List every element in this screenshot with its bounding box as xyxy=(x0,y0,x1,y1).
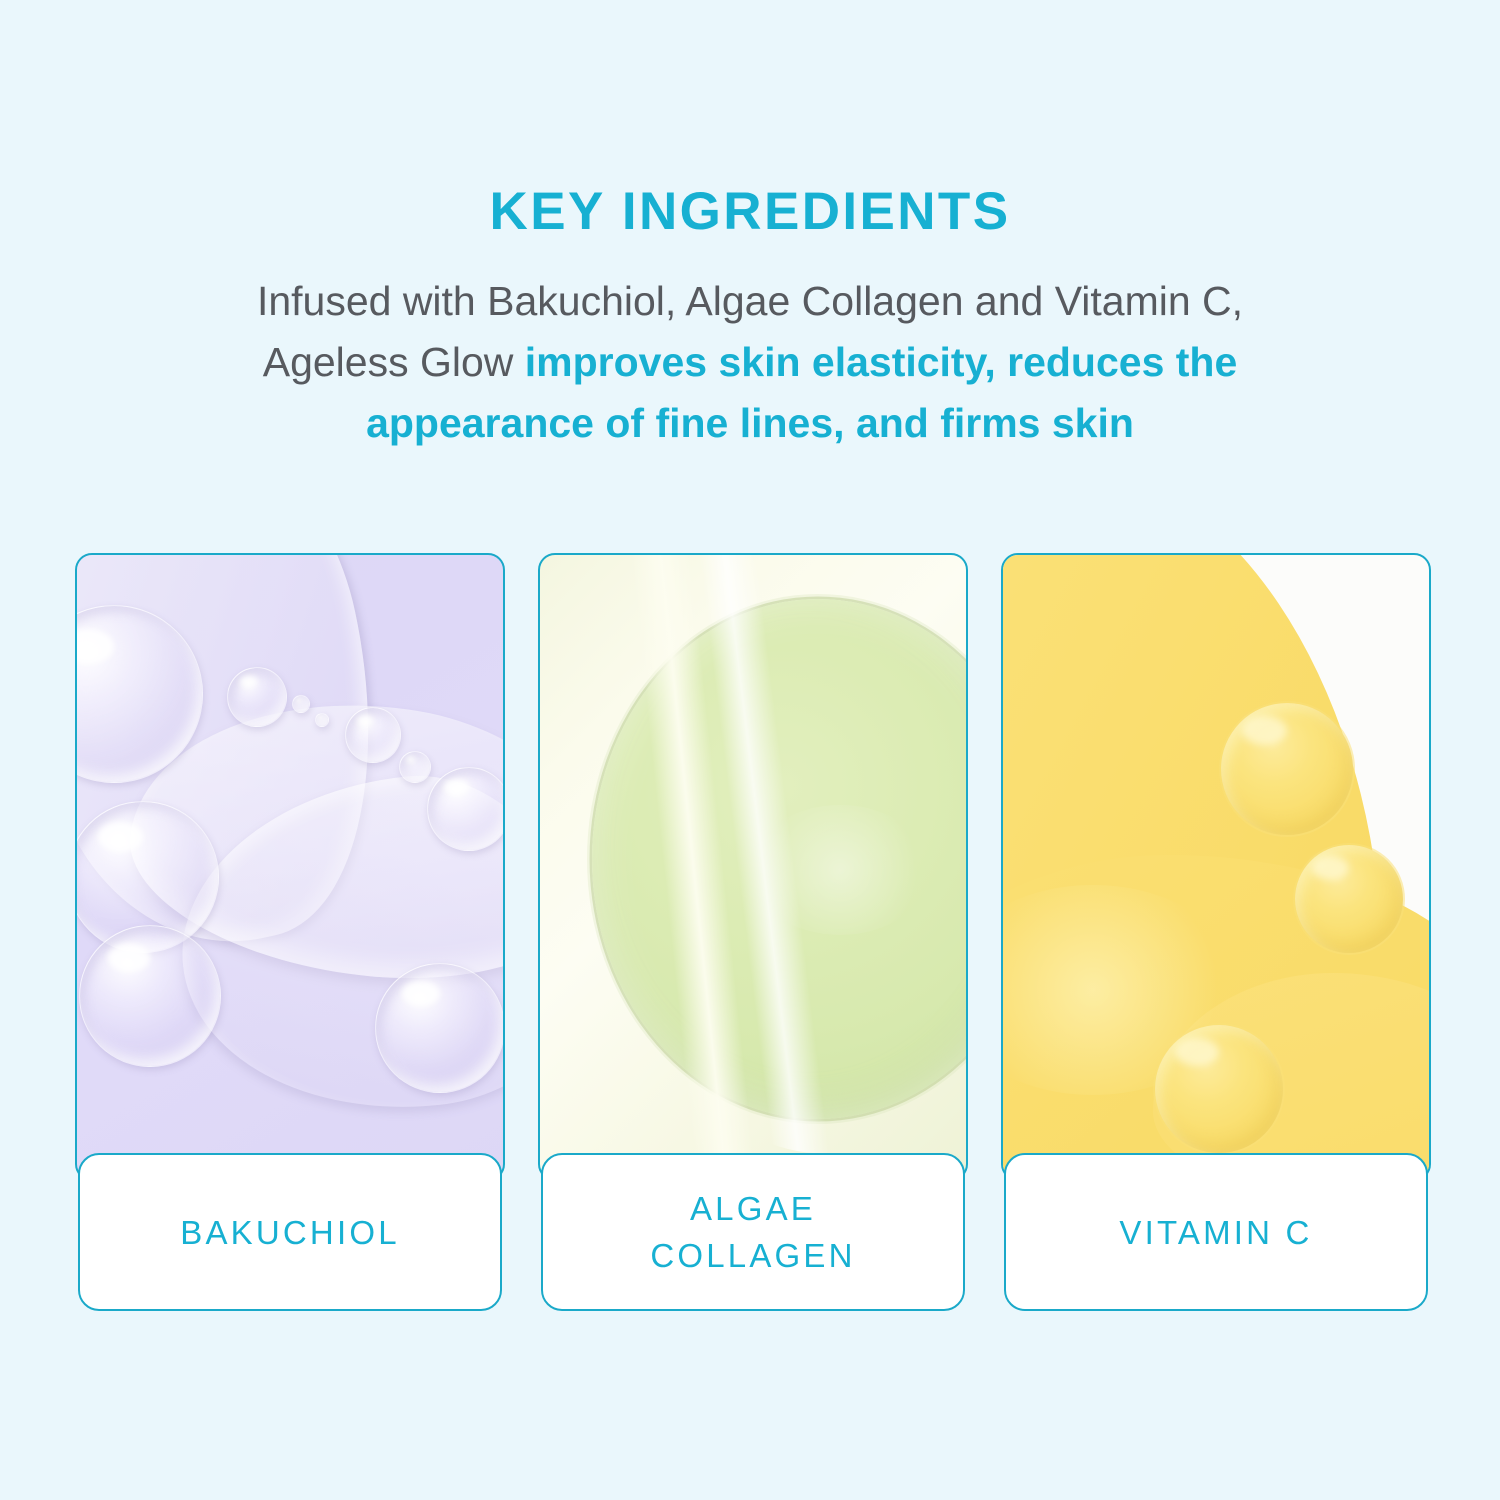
bakuchiol-serum-bubbles-image xyxy=(75,553,505,1181)
ingredient-label-box-vitamin-c: VITAMIN C xyxy=(1004,1153,1428,1311)
serum-bubble xyxy=(292,695,310,713)
subtitle-line-1: Infused with Bakuchiol, Algae Collagen a… xyxy=(110,271,1390,332)
ingredient-card-algae-collagen[interactable]: ALGAE COLLAGEN xyxy=(538,553,968,1311)
oil-droplet xyxy=(1221,703,1353,835)
droplet-glow xyxy=(750,805,930,935)
ingredient-cards-row: BAKUCHIOL ALGAE COLLAGEN xyxy=(75,553,1431,1311)
ingredient-card-vitamin-c[interactable]: VITAMIN C xyxy=(1001,553,1431,1311)
algae-collagen-droplet-image xyxy=(538,553,968,1181)
ingredient-label-algae-collagen: ALGAE COLLAGEN xyxy=(650,1185,855,1279)
serum-bubble xyxy=(427,767,505,851)
subtitle-line-2-highlight: improves skin elasticity, reduces the xyxy=(525,339,1238,385)
subtitle-line-3-highlight: appearance of fine lines, and firms skin xyxy=(110,393,1390,454)
vitamin-c-oil-droplets-image xyxy=(1001,553,1431,1181)
serum-bubble xyxy=(227,667,287,727)
serum-bubble xyxy=(399,751,431,783)
serum-bubble xyxy=(375,963,505,1093)
subtitle-text: Infused with Bakuchiol, Algae Collagen a… xyxy=(110,271,1390,454)
ingredient-label-vitamin-c: VITAMIN C xyxy=(1119,1209,1312,1256)
subtitle-line-2-plain: Ageless Glow xyxy=(263,339,525,385)
ingredient-label-box-algae-collagen: ALGAE COLLAGEN xyxy=(541,1153,965,1311)
serum-bubble xyxy=(315,713,329,727)
key-ingredients-page: KEY INGREDIENTS Infused with Bakuchiol, … xyxy=(0,0,1500,1500)
header-section: KEY INGREDIENTS Infused with Bakuchiol, … xyxy=(0,0,1500,454)
oil-droplet xyxy=(1155,1025,1283,1153)
serum-bubble xyxy=(79,925,221,1067)
subtitle-line-2: Ageless Glow improves skin elasticity, r… xyxy=(110,332,1390,393)
page-title: KEY INGREDIENTS xyxy=(0,185,1500,238)
serum-bubble xyxy=(345,707,401,763)
oil-droplet xyxy=(1295,845,1403,953)
ingredient-card-bakuchiol[interactable]: BAKUCHIOL xyxy=(75,553,505,1311)
ingredient-label-box-bakuchiol: BAKUCHIOL xyxy=(78,1153,502,1311)
ingredient-label-bakuchiol: BAKUCHIOL xyxy=(180,1209,400,1256)
